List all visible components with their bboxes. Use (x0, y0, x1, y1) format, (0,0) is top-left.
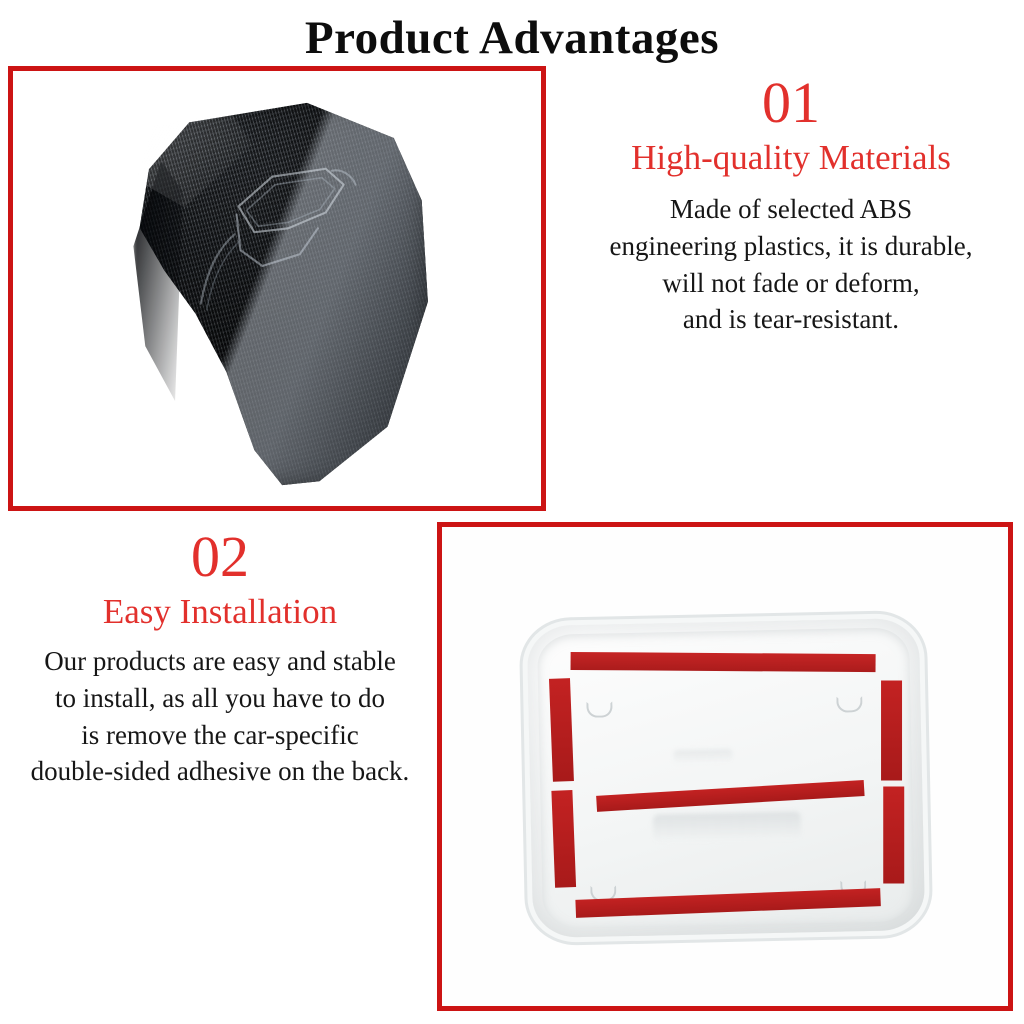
embossed-emblem-icon (177, 130, 375, 348)
panel-inner-surface (537, 627, 915, 929)
adhesive-strip-right-upper (881, 680, 902, 780)
mounting-clip (836, 696, 862, 713)
adhesive-strip-middle (596, 780, 864, 812)
adhesive-strip-top (571, 652, 876, 672)
adhesive-strip-left-upper (549, 678, 574, 782)
advantage-number-01: 01 (558, 74, 1024, 132)
advantage-number-02: 02 (0, 528, 440, 586)
product-photo-front-frame (8, 66, 546, 511)
page-title: Product Advantages (0, 14, 1024, 63)
fuel-door-back-panel (527, 618, 925, 938)
adhesive-strip-right-lower (883, 786, 904, 883)
advantage-body-01: Made of selected ABS engineering plastic… (558, 191, 1024, 338)
embossed-text-mark (652, 812, 801, 842)
product-photo-back (442, 527, 1008, 1006)
product-photo-front (13, 71, 541, 506)
advantage-body-02: Our products are easy and stable to inst… (0, 643, 440, 790)
product-advantages-poster: Product Advantages (0, 0, 1024, 1024)
embossed-small-mark (673, 748, 733, 764)
advantage-block-01: 01 High-quality Materials Made of select… (558, 74, 1024, 338)
carbon-fiber-fuel-door-cover (121, 99, 431, 489)
adhesive-strip-bottom (576, 888, 881, 917)
advantage-heading-02: Easy Installation (0, 592, 440, 631)
mounting-clip (587, 701, 613, 718)
product-photo-back-frame (437, 522, 1013, 1011)
adhesive-strip-left-lower (551, 790, 576, 888)
advantage-heading-01: High-quality Materials (558, 138, 1024, 177)
advantage-block-02: 02 Easy Installation Our products are ea… (0, 528, 440, 790)
